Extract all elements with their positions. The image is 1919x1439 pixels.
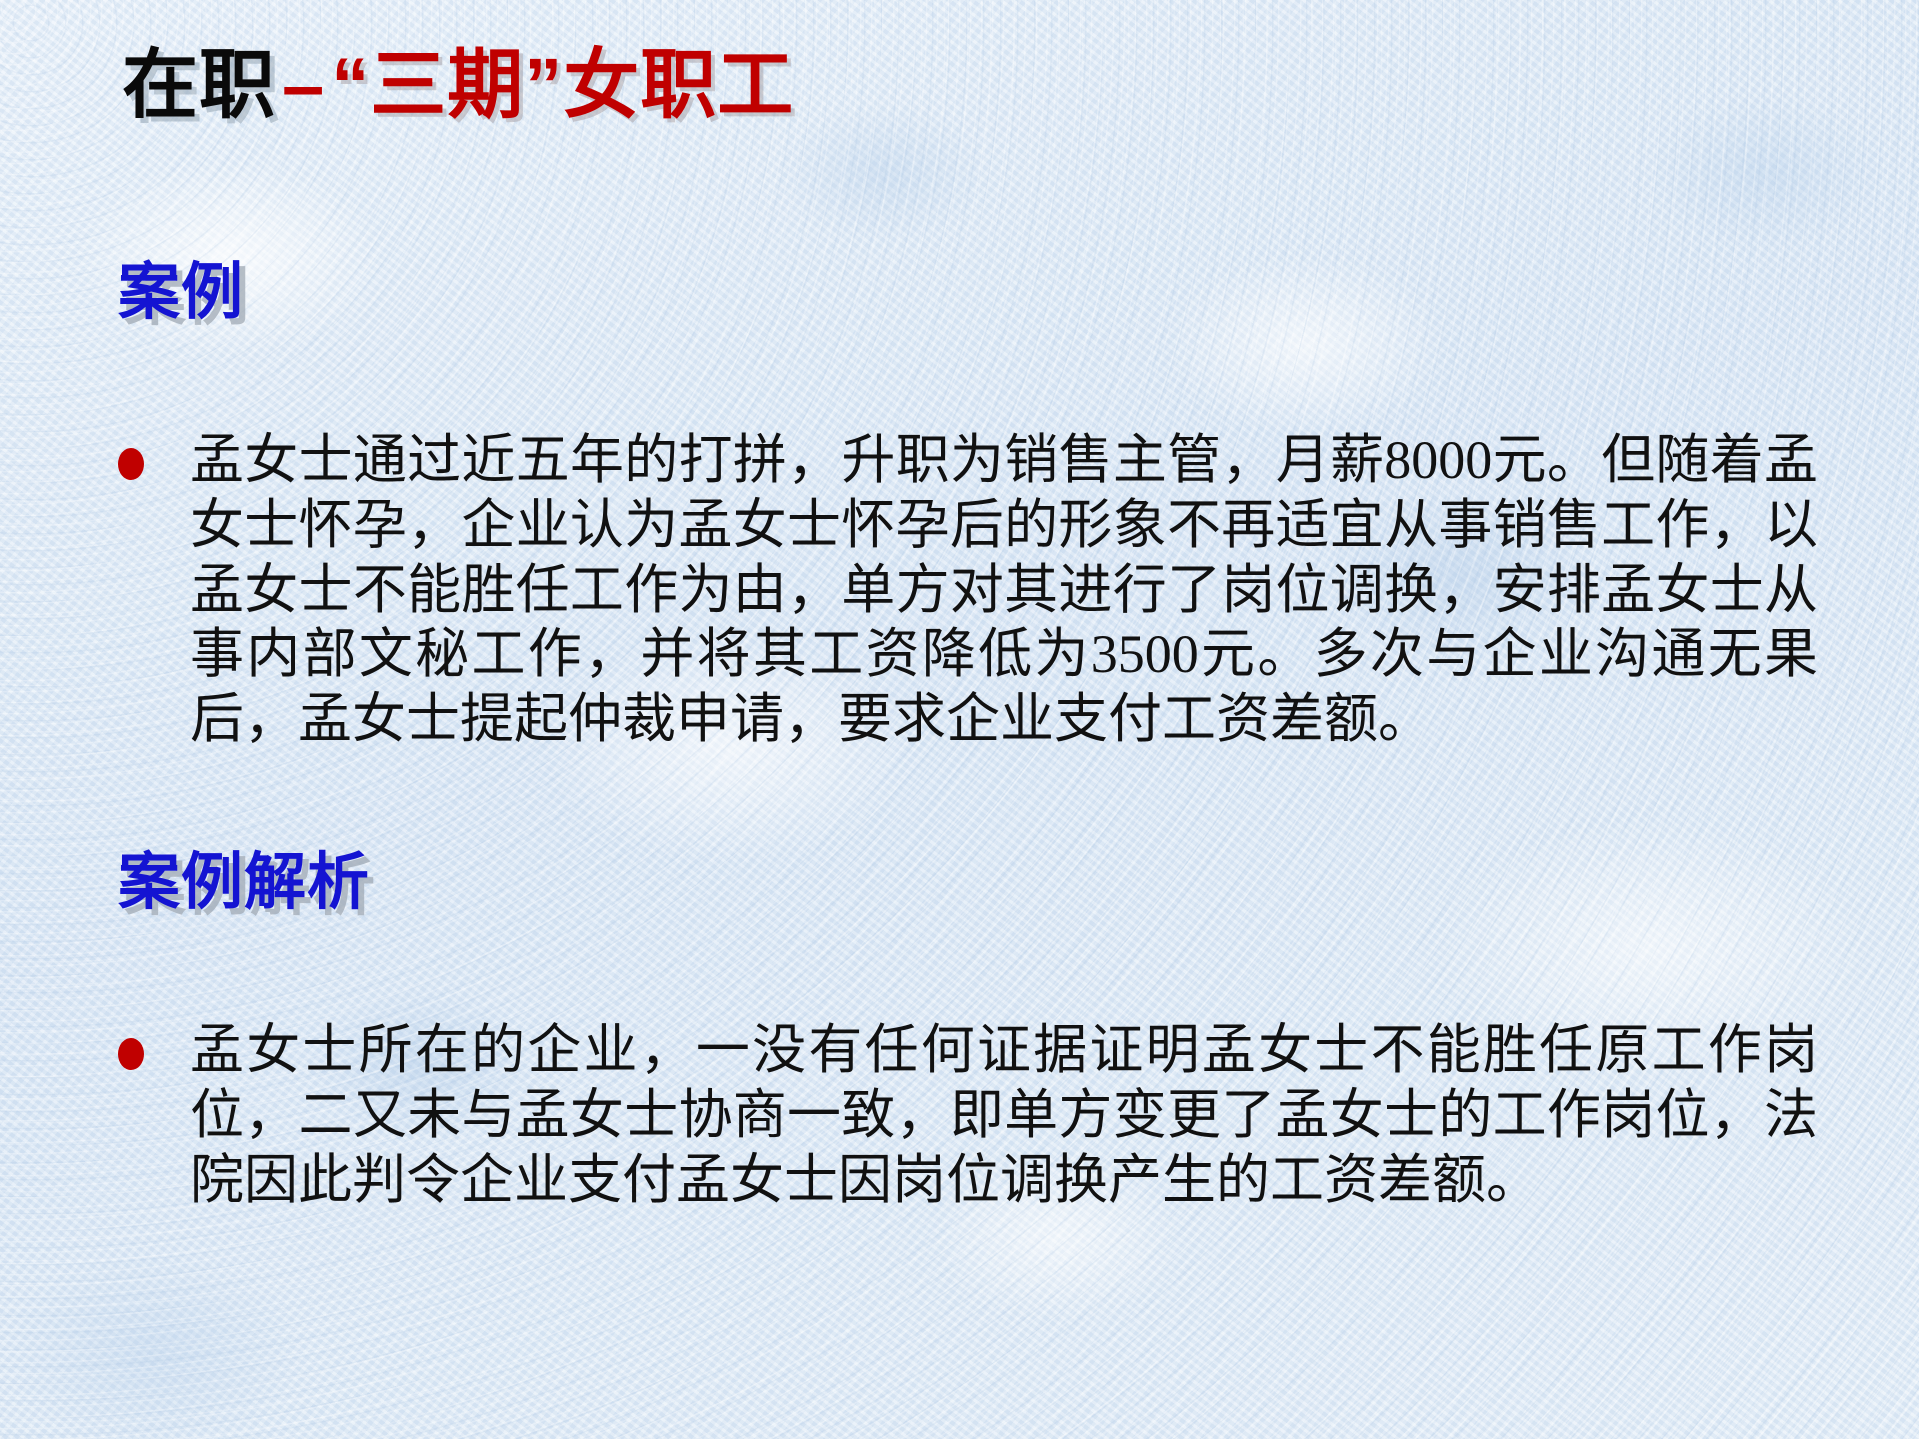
bullet-dot-icon bbox=[118, 1038, 144, 1070]
bullet-dot-icon bbox=[118, 448, 144, 480]
bullet-item-case: 孟女士通过近五年的打拼，升职为销售主管，月薪8000元。但随着孟女士怀孕，企业认… bbox=[118, 428, 1818, 752]
slide-canvas: 在职–“三期”女职工 案例 孟女士通过近五年的打拼，升职为销售主管，月薪8000… bbox=[0, 0, 1919, 1439]
bullet-text-analysis: 孟女士所在的企业，一没有任何证据证明孟女士不能胜任原工作岗位，二又未与孟女士协商… bbox=[190, 1018, 1818, 1212]
bullet-text-case: 孟女士通过近五年的打拼，升职为销售主管，月薪8000元。但随着孟女士怀孕，企业认… bbox=[190, 428, 1818, 752]
bullet-item-analysis: 孟女士所在的企业，一没有任何证据证明孟女士不能胜任原工作岗位，二又未与孟女士协商… bbox=[118, 1018, 1818, 1212]
section-heading-analysis: 案例解析 bbox=[118, 852, 370, 914]
page-title-lead: 在职 bbox=[122, 43, 276, 128]
section-heading-case: 案例 bbox=[118, 262, 244, 324]
slide-content: 在职–“三期”女职工 案例 孟女士通过近五年的打拼，升职为销售主管，月薪8000… bbox=[0, 0, 1919, 1439]
page-title-highlight: “三期”女职工 bbox=[331, 43, 794, 128]
page-title-dash: – bbox=[276, 43, 331, 128]
page-title: 在职–“三期”女职工 bbox=[122, 48, 794, 124]
